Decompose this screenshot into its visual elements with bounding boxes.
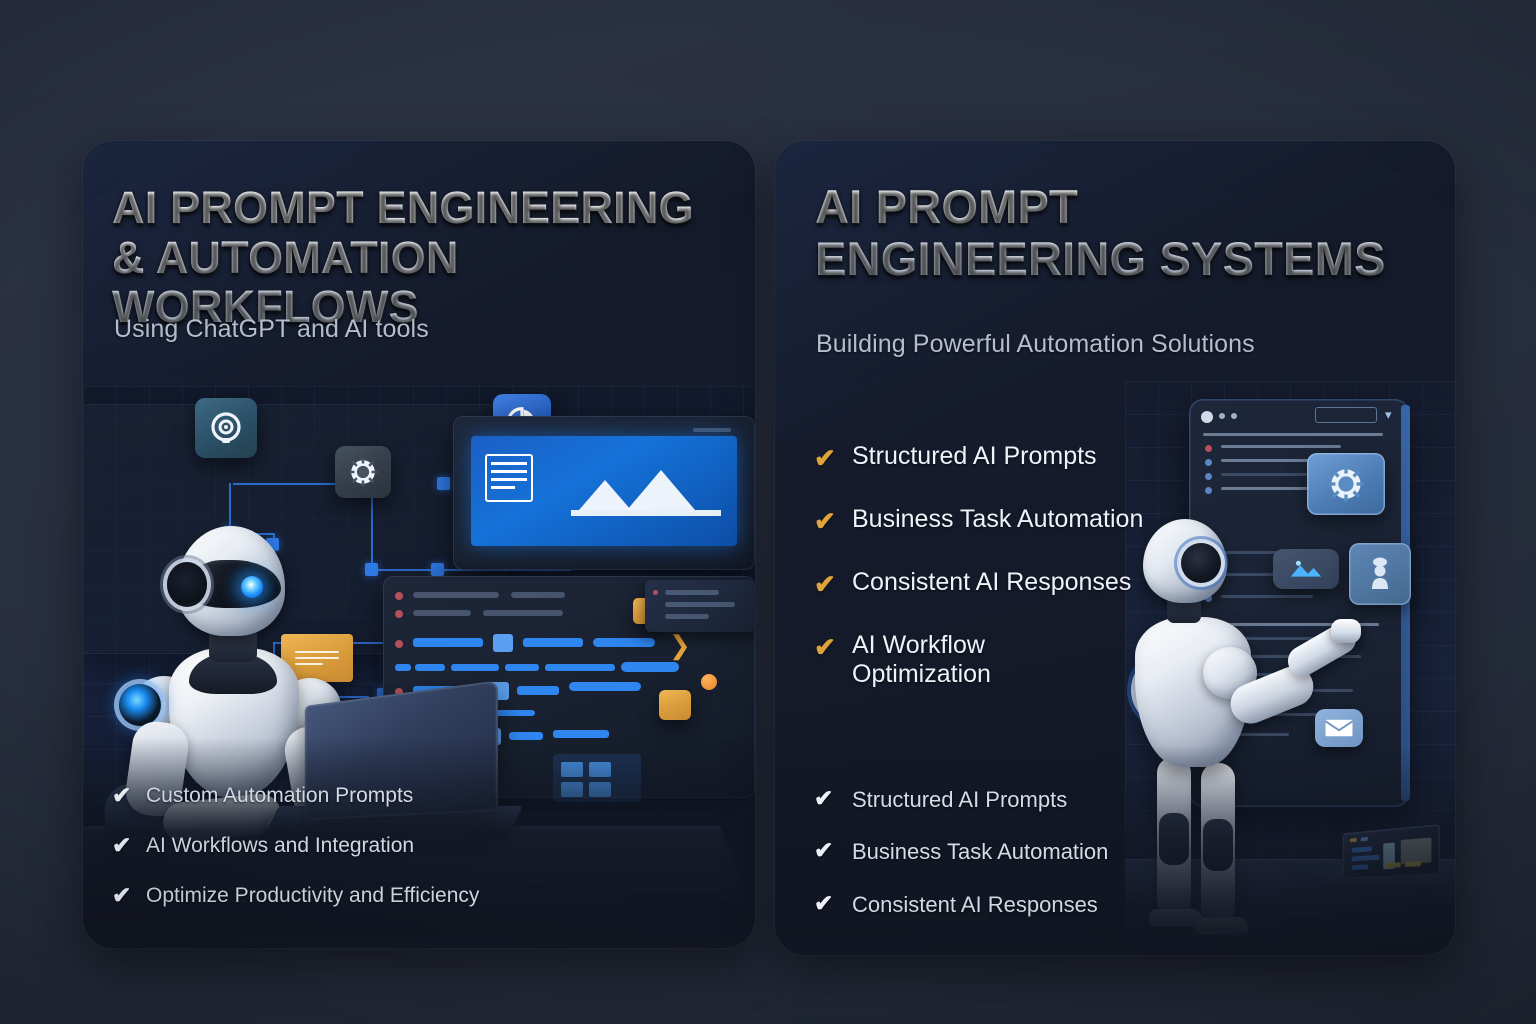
check-icon: ✔ (814, 787, 852, 810)
check-icon: ✔ (814, 631, 852, 660)
list-item[interactable]: ✔ Structured AI Prompts (814, 787, 1108, 812)
list-item[interactable]: ✔ Business Task Automation (814, 839, 1108, 864)
list-item-label: Business Task Automation (852, 505, 1143, 534)
list-item[interactable]: ✔ Consistent AI Responses (814, 892, 1108, 917)
right-card-title: AI PROMPTENGINEERING SYSTEMS (815, 181, 1445, 284)
list-item[interactable]: ✔ Consistent AI Responses (814, 568, 1143, 597)
right-card-subtitle: Building Powerful Automation Solutions (816, 330, 1255, 359)
list-item-label: Business Task Automation (852, 839, 1108, 864)
list-item[interactable]: ✔ Business Task Automation (814, 505, 1143, 534)
list-item-label: Consistent AI Responses (852, 892, 1098, 917)
list-item-label: Custom Automation Prompts (146, 784, 413, 808)
list-item-label: AI Workflow Optimization (852, 631, 1042, 689)
left-card-subtitle: Using ChatGPT and AI tools (114, 315, 429, 344)
check-icon: ✔ (112, 784, 146, 807)
check-icon: ✔ (814, 442, 852, 471)
list-item[interactable]: ✔ AI Workflow Optimization (814, 631, 1143, 689)
list-item[interactable]: ✔ Structured AI Prompts (814, 442, 1143, 471)
left-bullet-list: ✔ Custom Automation Prompts ✔ AI Workflo… (112, 784, 479, 934)
check-icon: ✔ (814, 568, 852, 597)
left-card-title: AI PROMPT ENGINEERING& AUTOMATION WORKFL… (112, 183, 752, 332)
list-item[interactable]: ✔ Custom Automation Prompts (112, 784, 479, 808)
check-icon: ✔ (814, 892, 852, 915)
right-feature-list: ✔ Structured AI Prompts ✔ Business Task … (814, 442, 1143, 723)
list-item[interactable]: ✔ AI Workflows and Integration (112, 834, 479, 858)
right-bullet-list: ✔ Structured AI Prompts ✔ Business Task … (814, 787, 1108, 944)
list-item-label: Optimize Productivity and Efficiency (146, 884, 479, 908)
poster-canvas: ❯ (0, 0, 1536, 1024)
list-item-label: Structured AI Prompts (852, 787, 1067, 812)
check-icon: ✔ (112, 884, 146, 907)
list-item-label: AI Workflows and Integration (146, 834, 414, 858)
list-item-label: Structured AI Prompts (852, 442, 1097, 471)
check-icon: ✔ (814, 839, 852, 862)
check-icon: ✔ (814, 505, 852, 534)
list-item-label: Consistent AI Responses (852, 568, 1131, 597)
check-icon: ✔ (112, 834, 146, 857)
list-item[interactable]: ✔ Optimize Productivity and Efficiency (112, 884, 479, 908)
